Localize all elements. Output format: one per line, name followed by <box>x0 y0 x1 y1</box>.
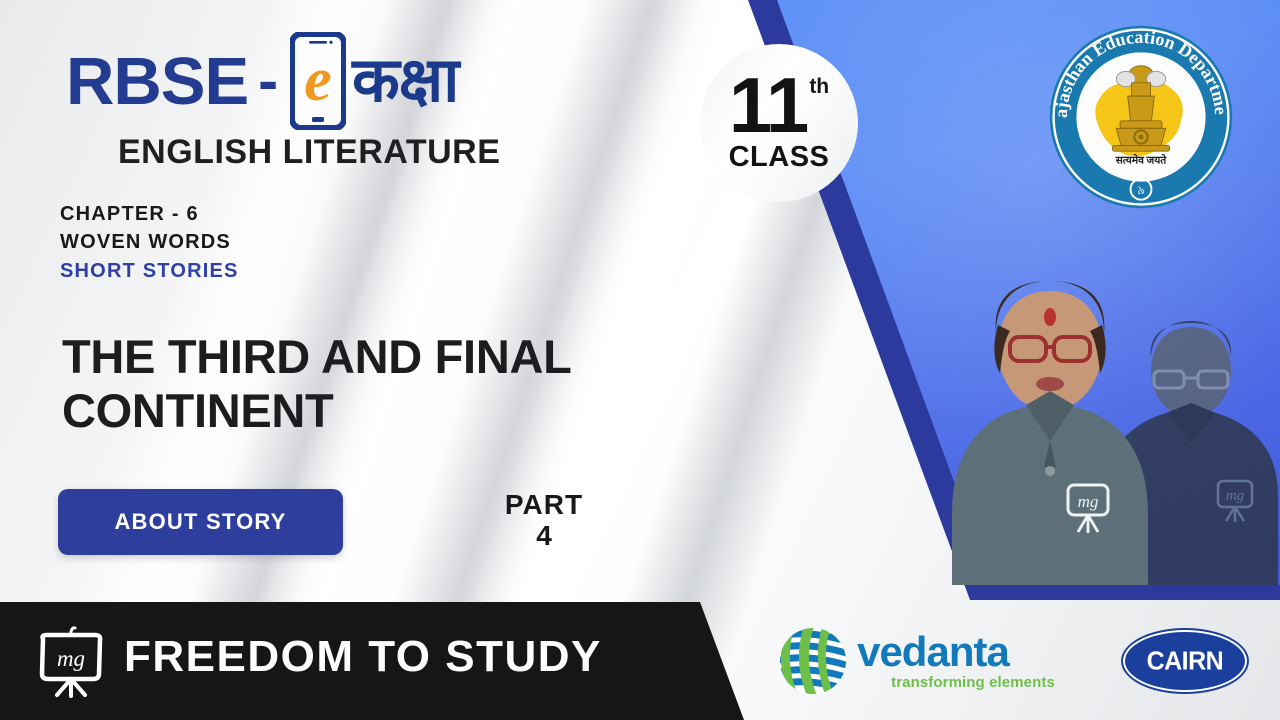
class-number-row: 11 th <box>729 72 829 138</box>
svg-text:mg: mg <box>1226 488 1245 504</box>
slide-canvas: mg mg <box>0 0 1280 720</box>
chapter-number: CHAPTER - 6 <box>60 200 239 228</box>
presenters-photo: mg mg <box>928 232 1280 585</box>
cairn-name: CAIRN <box>1147 646 1224 676</box>
svg-text:mg: mg <box>1078 492 1099 511</box>
part-number: 4 <box>489 520 599 551</box>
class-ordinal: th <box>809 78 829 96</box>
vedanta-tagline: transforming elements <box>891 674 1055 691</box>
part-label: PART <box>489 489 599 520</box>
story-title: THE THIRD AND FINAL CONTINENT <box>62 330 822 438</box>
brand-logo-row: RBSE - e कक्षा <box>66 32 458 130</box>
about-story-button[interactable]: ABOUT STORY <box>58 489 343 555</box>
chapter-section: SHORT STORIES <box>60 257 239 285</box>
mg-logo-text: mg <box>57 646 85 671</box>
rajasthan-education-department-seal: Rajasthan Education Department सत्यमेव ज… <box>1046 22 1236 212</box>
svg-text:৯: ৯ <box>1137 183 1145 197</box>
sponsor-logos: vedanta transforming elements CAIRN <box>744 602 1280 720</box>
vedanta-name: vedanta <box>857 631 1009 672</box>
chapter-book: WOVEN WORDS <box>60 228 239 256</box>
class-label: CLASS <box>729 141 830 174</box>
chapter-info: CHAPTER - 6 WOVEN WORDS SHORT STORIES <box>60 200 239 285</box>
vedanta-logo: vedanta transforming elements <box>777 625 1055 697</box>
e-letter: e <box>304 46 332 114</box>
vedanta-text-block: vedanta transforming elements <box>857 631 1055 690</box>
brand-separator: - <box>258 51 278 111</box>
mg-brand-logo-icon: mg <box>34 624 108 698</box>
part-indicator: PART 4 <box>489 489 599 552</box>
brand-board-name: RBSE <box>66 48 248 115</box>
seal-motto: सत्यमेव जयते <box>1115 154 1168 167</box>
vedanta-globe-icon <box>777 625 849 697</box>
cairn-logo: CAIRN <box>1123 630 1247 692</box>
class-badge: 11 th CLASS <box>700 44 858 202</box>
mobile-phone-icon: e <box>290 32 346 130</box>
footer-tagline: FREEDOM TO STUDY <box>124 632 602 682</box>
brand-kaksha-text: कक्षा <box>352 50 458 112</box>
class-number: 11 <box>729 72 807 138</box>
female-presenter: mg <box>934 255 1166 585</box>
subject-title: ENGLISH LITERATURE <box>118 133 500 172</box>
